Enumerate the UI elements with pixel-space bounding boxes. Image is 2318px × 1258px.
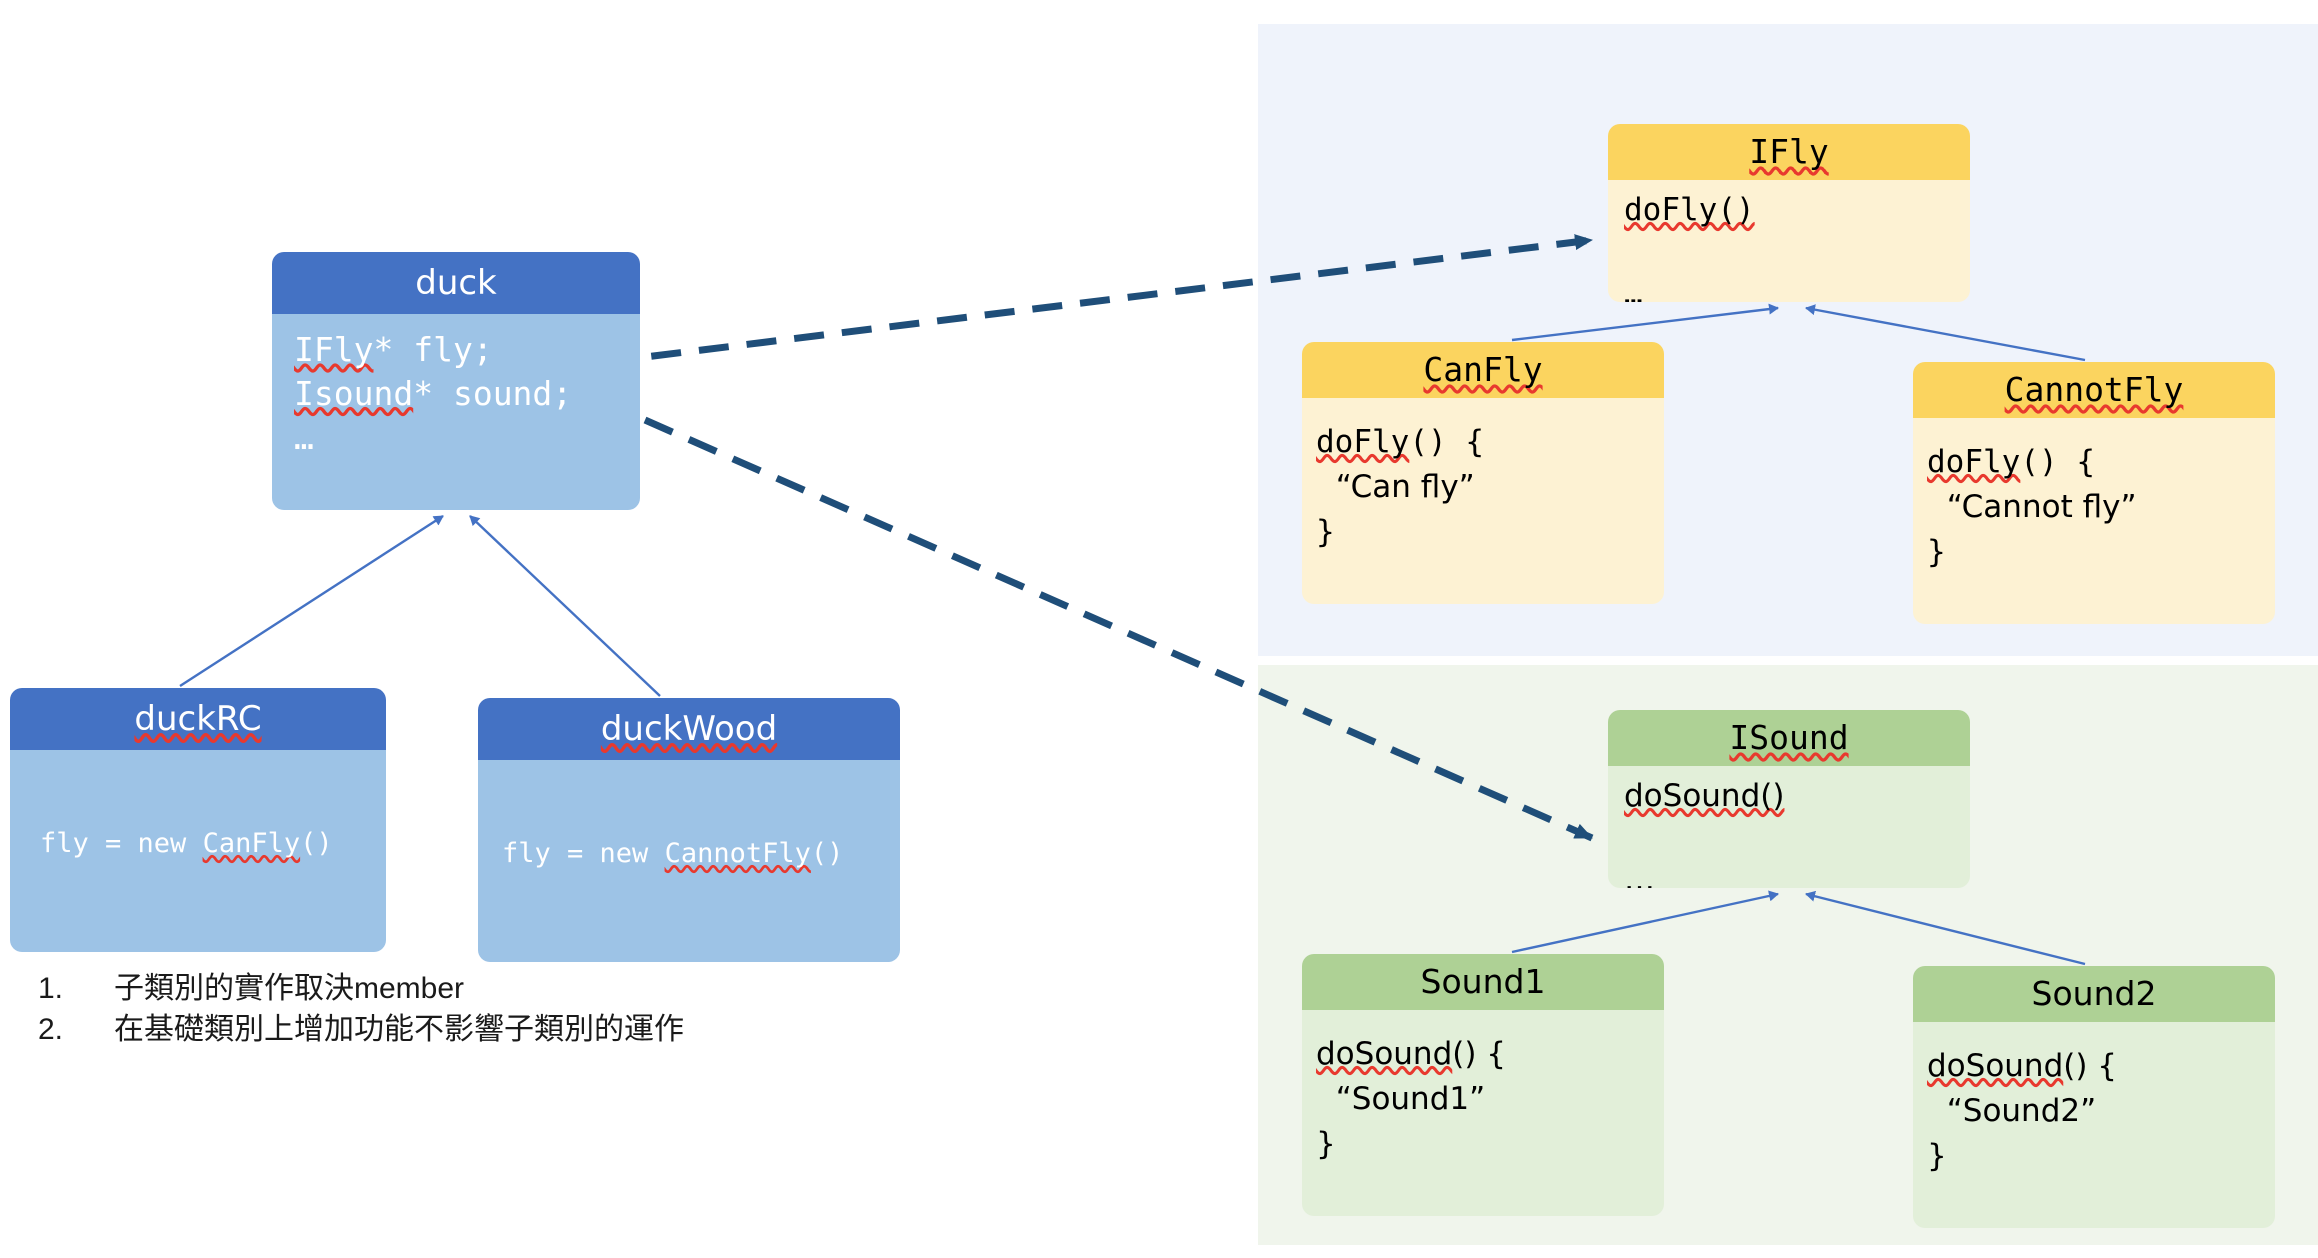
link-duckrc-to-duck bbox=[180, 516, 443, 686]
class-box-duckwood[interactable]: duckWood fly = new CannotFly() bbox=[478, 698, 900, 962]
class-title-isound: ISound bbox=[1608, 710, 1970, 766]
cannotfly-line2: “Cannot fly” bbox=[1927, 489, 2137, 525]
duckrc-assign-class: CanFly bbox=[203, 828, 301, 859]
class-box-isound[interactable]: ISound doSound() … bbox=[1608, 710, 1970, 888]
class-body-cannotfly: doFly() { “Cannot fly” } bbox=[1913, 418, 2275, 624]
duckwood-assign-suffix: () bbox=[811, 838, 844, 869]
class-title-duckrc: duckRC bbox=[10, 688, 386, 750]
sound2-line1-rest: () { bbox=[2063, 1048, 2117, 1084]
sound1-method: doSound bbox=[1316, 1036, 1452, 1072]
sound1-line3: } bbox=[1316, 1126, 1336, 1162]
class-box-ifly[interactable]: IFly doFly() … bbox=[1608, 124, 1970, 302]
notes-list: 1. 子類別的實作取決member 2. 在基礎類別上增加功能不影響子類別的運作 bbox=[38, 968, 938, 1051]
duckwood-assign-class: CannotFly bbox=[665, 838, 811, 869]
class-box-duckrc[interactable]: duckRC fly = new CanFly() bbox=[10, 688, 386, 952]
member-sound-rest: * sound; bbox=[413, 374, 572, 413]
ifly-ellipsis: … bbox=[1624, 276, 1643, 302]
list-item: 1. 子類別的實作取決member bbox=[38, 968, 938, 1009]
class-box-canfly[interactable]: CanFly doFly() { “Can fly” } bbox=[1302, 342, 1664, 604]
note-text: 子類別的實作取決member bbox=[114, 968, 938, 1009]
member-type-isound: Isound bbox=[294, 374, 413, 413]
list-item: 2. 在基礎類別上增加功能不影響子類別的運作 bbox=[38, 1009, 938, 1050]
sound2-line3: } bbox=[1927, 1138, 1947, 1174]
class-body-duckrc: fly = new CanFly() bbox=[10, 750, 386, 952]
sound1-line2: “Sound1” bbox=[1316, 1081, 1485, 1117]
class-title-cannotfly: CannotFly bbox=[1913, 362, 2275, 418]
isound-ellipsis: … bbox=[1624, 862, 1655, 888]
class-body-duck: IFly* fly; Isound* sound; … bbox=[272, 314, 640, 510]
sound2-line2: “Sound2” bbox=[1927, 1093, 2096, 1129]
class-box-sound1[interactable]: Sound1 doSound() { “Sound1” } bbox=[1302, 954, 1664, 1216]
canfly-line1-rest: () { bbox=[1409, 424, 1484, 460]
class-title-duck: duck bbox=[272, 252, 640, 314]
class-title-sound1: Sound1 bbox=[1302, 954, 1664, 1010]
canfly-method: doFly bbox=[1316, 424, 1409, 460]
class-title-sound2: Sound2 bbox=[1913, 966, 2275, 1022]
cannotfly-line3: } bbox=[1927, 534, 1946, 570]
class-body-duckwood: fly = new CannotFly() bbox=[478, 760, 900, 962]
class-body-sound1: doSound() { “Sound1” } bbox=[1302, 1010, 1664, 1216]
link-duckwood-to-duck bbox=[470, 516, 660, 696]
canfly-line2: “Can fly” bbox=[1316, 469, 1475, 505]
diagram-canvas: duck IFly* fly; Isound* sound; … duckRC … bbox=[0, 0, 2318, 1258]
note-number: 1. bbox=[38, 968, 114, 1009]
cannotfly-line1-rest: () { bbox=[2020, 444, 2095, 480]
class-title-ifly: IFly bbox=[1608, 124, 1970, 180]
class-box-duck[interactable]: duck IFly* fly; Isound* sound; … bbox=[272, 252, 640, 510]
cannotfly-method: doFly bbox=[1927, 444, 2020, 480]
sound1-line1-rest: () { bbox=[1452, 1036, 1506, 1072]
duck-ellipsis: … bbox=[294, 418, 314, 457]
class-body-canfly: doFly() { “Can fly” } bbox=[1302, 398, 1664, 604]
duckrc-assign-prefix: fly = new bbox=[40, 828, 203, 859]
note-text: 在基礎類別上增加功能不影響子類別的運作 bbox=[114, 1009, 938, 1050]
class-box-cannotfly[interactable]: CannotFly doFly() { “Cannot fly” } bbox=[1913, 362, 2275, 624]
class-body-isound: doSound() … bbox=[1608, 766, 1970, 888]
duckwood-assign-prefix: fly = new bbox=[502, 838, 665, 869]
member-fly-rest: * fly; bbox=[373, 330, 492, 369]
class-body-ifly: doFly() … bbox=[1608, 180, 1970, 302]
canfly-line3: } bbox=[1316, 514, 1335, 550]
sound2-method: doSound bbox=[1927, 1048, 2063, 1084]
member-type-ifly: IFly bbox=[294, 330, 373, 369]
class-title-duckwood: duckWood bbox=[478, 698, 900, 760]
class-box-sound2[interactable]: Sound2 doSound() { “Sound2” } bbox=[1913, 966, 2275, 1228]
note-number: 2. bbox=[38, 1009, 114, 1050]
class-title-canfly: CanFly bbox=[1302, 342, 1664, 398]
class-body-sound2: doSound() { “Sound2” } bbox=[1913, 1022, 2275, 1228]
isound-method: doSound() bbox=[1624, 778, 1784, 814]
duckrc-assign-suffix: () bbox=[300, 828, 333, 859]
ifly-method: doFly() bbox=[1624, 192, 1755, 228]
